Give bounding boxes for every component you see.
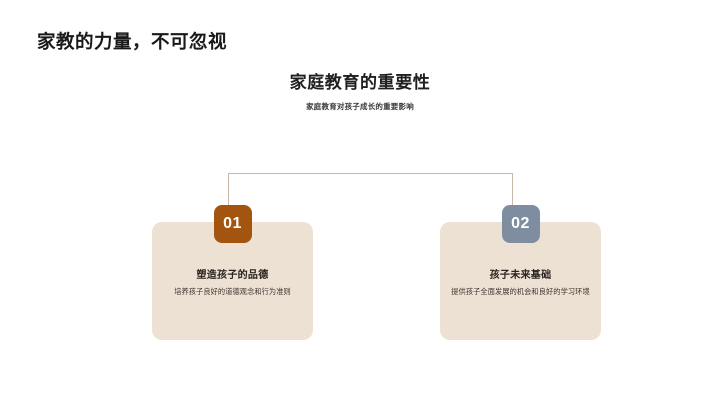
info-card-title: 塑造孩子的品德 <box>152 266 313 281</box>
main-subheading: 家庭教育对孩子成长的重要影响 <box>0 101 720 112</box>
main-heading: 家庭教育的重要性 <box>0 68 720 93</box>
info-card-02[interactable]: 02 孩子未来基础 提供孩子全面发展的机会和良好的学习环境 <box>440 222 601 340</box>
bracket-connector <box>228 173 513 209</box>
info-card-description: 提供孩子全面发展的机会和良好的学习环境 <box>450 286 591 298</box>
info-card-title: 孩子未来基础 <box>440 266 601 281</box>
info-card-description: 培养孩子良好的道德观念和行为准则 <box>162 286 303 298</box>
slide-canvas: 家教的力量，不可忽视 家庭教育的重要性 家庭教育对孩子成长的重要影响 01 塑造… <box>0 0 720 404</box>
badge-number-02: 02 <box>502 205 540 243</box>
page-title: 家教的力量，不可忽视 <box>37 28 227 54</box>
badge-number-01: 01 <box>214 205 252 243</box>
info-card-01[interactable]: 01 塑造孩子的品德 培养孩子良好的道德观念和行为准则 <box>152 222 313 340</box>
